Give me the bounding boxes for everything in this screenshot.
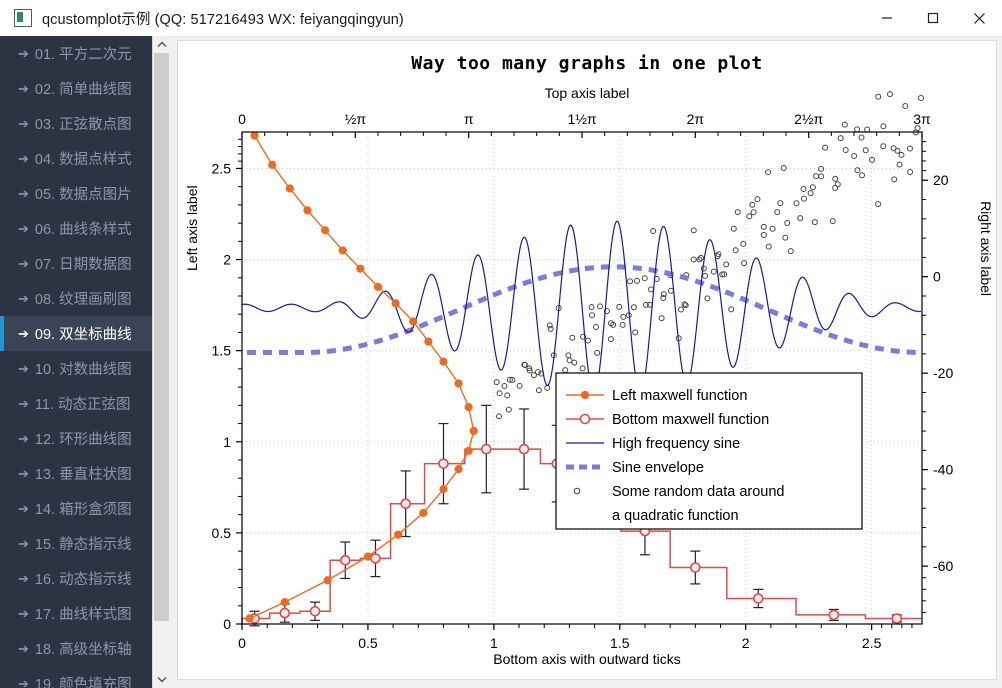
data-marker <box>286 185 293 192</box>
sidebar-item-label: 05. 数据点图片 <box>35 183 132 204</box>
scatter-point <box>590 313 595 318</box>
window-titlebar: qcustomplot示例 (QQ: 517216493 WX: feiyang… <box>0 0 1002 37</box>
sidebar-item-label: 13. 垂直柱状图 <box>35 463 132 484</box>
scatter-point <box>814 174 819 179</box>
scatter-point <box>572 360 577 365</box>
sidebar-item-5[interactable]: ➔05. 数据点图片 <box>0 176 152 211</box>
ticklabel-top: 0 <box>238 111 246 127</box>
data-marker <box>440 486 447 493</box>
data-marker <box>420 509 427 516</box>
ticklabel-left: 2 <box>223 252 231 268</box>
scatter-point <box>852 153 857 158</box>
scatter-point <box>801 196 806 201</box>
scatter-point <box>770 226 775 231</box>
sidebar-item-label: 01. 平方二次元 <box>35 43 132 64</box>
scatter-point <box>812 220 817 225</box>
ticklabel-top: π <box>464 111 474 127</box>
scatter-point <box>570 335 575 340</box>
scatter-point <box>842 122 847 127</box>
scatter-point <box>683 303 688 308</box>
ticklabel-left: 0 <box>223 616 231 632</box>
legend-label: Left maxwell function <box>612 388 747 404</box>
ticklabel-right: -40 <box>933 462 953 478</box>
legend-label: High frequency sine <box>612 436 740 452</box>
close-button[interactable] <box>956 1 1002 36</box>
data-marker <box>440 358 447 365</box>
sidebar-item-6[interactable]: ➔06. 曲线条样式 <box>0 211 152 246</box>
arrow-right-icon: ➔ <box>18 362 29 375</box>
scatter-point <box>733 248 738 253</box>
scatter-point <box>545 385 550 390</box>
line <box>250 136 474 619</box>
data-marker <box>339 247 346 254</box>
scatter-point <box>876 202 881 207</box>
data-marker <box>269 161 276 168</box>
scatter-point <box>580 366 585 371</box>
scatter-point <box>621 314 626 319</box>
arrow-right-icon: ➔ <box>18 222 29 235</box>
sidebar-item-label: 10. 对数曲线图 <box>35 358 132 379</box>
arrow-right-icon: ➔ <box>18 572 29 585</box>
data-marker <box>425 338 432 345</box>
arrow-right-icon: ➔ <box>18 642 29 655</box>
scatter-point <box>729 307 734 312</box>
scatter-point <box>598 304 603 309</box>
ticklabel-bottom: 1.5 <box>610 635 630 651</box>
sidebar-item-label: 09. 双坐标曲线 <box>35 323 132 344</box>
scatter-point <box>870 157 875 162</box>
scatter-point <box>899 152 904 157</box>
scatter-point <box>766 244 771 249</box>
sidebar-item-13[interactable]: ➔13. 垂直柱状图 <box>0 456 152 491</box>
scatter-point <box>801 186 806 191</box>
scatter-point <box>703 273 708 278</box>
sidebar-item-label: 08. 纹理画刷图 <box>35 288 132 309</box>
scatter-point <box>761 224 766 229</box>
scatter-point <box>798 216 803 221</box>
ticklabel-right: -20 <box>933 365 953 381</box>
scatter-point <box>783 235 788 240</box>
scatter-point <box>819 174 824 179</box>
sidebar-item-18[interactable]: ➔18. 高级坐标轴 <box>0 631 152 666</box>
data-marker <box>892 614 901 623</box>
arrow-right-icon: ➔ <box>18 152 29 165</box>
scatter-point <box>678 307 683 312</box>
arrow-right-icon: ➔ <box>18 607 29 620</box>
data-marker <box>374 283 381 290</box>
scatter-point <box>887 92 892 97</box>
sidebar-item-label: 15. 静态指示线 <box>35 533 132 554</box>
scatter-point <box>865 127 870 132</box>
data-marker <box>829 610 838 619</box>
scatter-point <box>589 305 594 310</box>
scatter-point <box>735 210 740 215</box>
data-marker <box>251 132 258 139</box>
legend-label-cont: a quadratic function <box>612 508 739 524</box>
scatter-point <box>502 384 507 389</box>
scatter-point <box>903 104 908 109</box>
data-marker <box>341 556 350 565</box>
scatter-point <box>494 380 499 385</box>
scatter-point <box>691 228 696 233</box>
arrow-right-icon: ➔ <box>18 292 29 305</box>
scatter-point <box>497 391 502 396</box>
maximize-button[interactable] <box>910 1 956 36</box>
arrow-right-icon: ➔ <box>18 432 29 445</box>
scatter-point <box>781 166 786 171</box>
legend-label: Some random data around <box>612 484 785 500</box>
scatter-point <box>595 350 600 355</box>
sidebar-item-label: 19. 颜色填充图 <box>35 673 132 688</box>
scrollbar-thumb[interactable] <box>154 53 169 621</box>
scatter-point <box>788 249 793 254</box>
scatter-point <box>631 305 636 310</box>
series-random-scatter <box>494 92 923 419</box>
plot-legend[interactable]: Left maxwell functionBottom maxwell func… <box>556 373 862 529</box>
data-marker <box>364 553 371 560</box>
scatter-point <box>892 177 897 182</box>
data-marker <box>280 609 289 618</box>
sidebar-item-11[interactable]: ➔11. 动态正弦图 <box>0 386 152 421</box>
sidebar-item-16[interactable]: ➔16. 动态指示线 <box>0 561 152 596</box>
scatter-point <box>497 414 502 419</box>
scatter-point <box>881 144 886 149</box>
scatter-point <box>823 145 828 150</box>
data-marker <box>246 615 253 622</box>
scatter-point <box>548 326 553 331</box>
legend-label: Sine envelope <box>612 460 704 476</box>
window-title: qcustomplot示例 (QQ: 517216493 WX: feiyang… <box>42 8 404 29</box>
sidebar-item-7[interactable]: ➔07. 日期数据图 <box>0 246 152 281</box>
data-marker <box>281 599 288 606</box>
data-marker <box>465 447 472 454</box>
ticklabel-left: 0.5 <box>212 525 232 541</box>
data-marker <box>324 577 331 584</box>
scatter-point <box>895 148 900 153</box>
scatter-point <box>751 210 756 215</box>
scatter-point <box>835 182 840 187</box>
arrow-right-icon: ➔ <box>18 467 29 480</box>
arrow-right-icon: ➔ <box>18 537 29 550</box>
ticklabel-right: -60 <box>933 558 953 574</box>
data-marker <box>754 594 763 603</box>
sidebar-item-label: 16. 动态指示线 <box>35 568 132 589</box>
series-left-maxwell <box>246 132 477 622</box>
scatter-point <box>563 368 568 373</box>
scatter-point <box>742 261 747 266</box>
sidebar-item-8[interactable]: ➔08. 纹理画刷图 <box>0 281 152 316</box>
ticklabel-bottom: 2 <box>742 635 750 651</box>
ticklabel-top: 3π <box>913 111 931 127</box>
chevron-down-icon <box>157 676 167 683</box>
scatter-point <box>705 296 710 301</box>
scatter-point <box>785 220 790 225</box>
ticklabel-right: 20 <box>933 172 949 188</box>
scatter-point <box>843 147 848 152</box>
scatter-point <box>566 353 571 358</box>
data-marker <box>395 531 402 538</box>
data-marker <box>401 499 410 508</box>
arrow-right-icon: ➔ <box>18 117 29 130</box>
scatter-point <box>747 214 752 219</box>
scroll-up-button[interactable] <box>153 36 170 53</box>
minimize-button[interactable] <box>864 1 910 36</box>
plot-panel[interactable]: Way too many graphs in one plot Top axis… <box>177 40 997 680</box>
data-marker <box>691 563 700 572</box>
data-marker <box>455 466 462 473</box>
arrow-right-icon: ➔ <box>18 257 29 270</box>
data-marker <box>520 445 529 454</box>
scatter-point <box>863 148 868 153</box>
sidebar-item-9[interactable]: ➔09. 双坐标曲线 <box>0 316 152 351</box>
scatter-point <box>855 127 860 132</box>
arrow-right-icon: ➔ <box>18 677 29 688</box>
scatter-point <box>876 94 881 99</box>
scatter-point <box>741 241 746 246</box>
data-marker <box>482 445 491 454</box>
scatter-point <box>810 185 815 190</box>
scatter-point <box>830 219 835 224</box>
scatter-point <box>859 135 864 140</box>
scatter-point <box>620 322 625 327</box>
sidebar-item-17[interactable]: ➔17. 曲线样式图 <box>0 596 152 631</box>
scatter-point <box>897 162 902 167</box>
scatter-point <box>506 407 511 412</box>
scatter-point <box>808 191 813 196</box>
close-icon <box>973 12 986 25</box>
scatter-point <box>691 257 696 262</box>
arrow-right-icon: ➔ <box>18 47 29 60</box>
ticklabel-left: 1 <box>223 434 231 450</box>
sidebar-item-label: 04. 数据点样式 <box>35 148 132 169</box>
scatter-point <box>833 176 838 181</box>
scatter-point <box>517 383 522 388</box>
sidebar-item-10[interactable]: ➔10. 对数曲线图 <box>0 351 152 386</box>
data-marker <box>465 404 472 411</box>
scatter-point <box>651 229 656 234</box>
ticklabel-left: 1.5 <box>212 343 232 359</box>
sidebar-item-3[interactable]: ➔03. 正弦散点图 <box>0 106 152 141</box>
sidebar-scrollbar[interactable] <box>152 36 170 688</box>
scatter-point <box>668 288 673 293</box>
scatter-point <box>907 146 912 151</box>
sidebar-item-label: 07. 日期数据图 <box>35 253 132 274</box>
scatter-point <box>505 393 510 398</box>
ticklabel-bottom: 1 <box>490 635 498 651</box>
data-marker <box>410 318 417 325</box>
scroll-down-button[interactable] <box>153 671 170 688</box>
data-marker <box>470 427 477 434</box>
sidebar-item-14[interactable]: ➔14. 箱形盒须图 <box>0 491 152 526</box>
ticklabel-top: 1½π <box>567 111 596 127</box>
scatter-point <box>724 262 729 267</box>
scatter-point <box>794 201 799 206</box>
arrow-right-icon: ➔ <box>18 82 29 95</box>
sidebar-item-15[interactable]: ➔15. 静态指示线 <box>0 526 152 561</box>
data-marker <box>392 300 399 307</box>
data-marker <box>304 207 311 214</box>
scatter-point <box>628 279 633 284</box>
sidebar-item-label: 06. 曲线条样式 <box>35 218 132 239</box>
ticklabel-bottom: 2.5 <box>862 635 882 651</box>
ticklabel-right: 0 <box>933 269 941 285</box>
ticklabel-left: 2.5 <box>212 160 232 176</box>
app-window: qcustomplot示例 (QQ: 517216493 WX: feiyang… <box>0 0 1002 688</box>
data-marker <box>371 554 380 563</box>
scatter-point <box>755 197 760 202</box>
sidebar-item-label: 02. 简单曲线图 <box>35 78 132 99</box>
scatter-point <box>633 330 638 335</box>
scatter-point <box>617 304 622 309</box>
sidebar-item-label: 11. 动态正弦图 <box>35 393 131 414</box>
arrow-right-icon: ➔ <box>18 187 29 200</box>
legend-sample-marker <box>581 391 588 398</box>
data-marker <box>455 380 462 387</box>
sidebar-item-1[interactable]: ➔01. 平方二次元 <box>0 36 152 71</box>
scatter-point <box>766 170 771 175</box>
arrow-right-icon: ➔ <box>18 327 29 340</box>
scatter-point <box>547 323 552 328</box>
ticklabel-top: ½π <box>345 111 367 127</box>
sidebar-item-label: 03. 正弦散点图 <box>35 113 132 134</box>
scatter-point <box>648 287 653 292</box>
scatter-point <box>838 136 843 141</box>
scatter-point <box>860 173 865 178</box>
ticklabel-top: 2½π <box>794 111 823 127</box>
scatter-point <box>750 202 755 207</box>
scatter-point <box>536 388 541 393</box>
scatter-point <box>908 170 913 175</box>
maximize-icon <box>927 12 939 24</box>
ticklabel-bottom: 0.5 <box>358 635 378 651</box>
scatter-point <box>711 269 716 274</box>
sidebar-item-label: 12. 环形曲线图 <box>35 428 132 449</box>
scatter-point <box>919 96 924 101</box>
scatter-point <box>642 276 647 281</box>
sidebar-nav[interactable]: ➔01. 平方二次元➔02. 简单曲线图➔03. 正弦散点图➔04. 数据点样式… <box>0 36 152 688</box>
scatter-point <box>659 316 664 321</box>
scatter-point <box>855 168 860 173</box>
scatter-point <box>731 226 736 231</box>
data-marker <box>357 265 364 272</box>
sidebar-item-label: 17. 曲线样式图 <box>35 603 132 624</box>
sidebar-item-2[interactable]: ➔02. 简单曲线图 <box>0 71 152 106</box>
scatter-point <box>608 337 613 342</box>
legend-sample-marker <box>581 415 590 424</box>
scatter-point <box>585 338 590 343</box>
app-icon <box>14 9 32 27</box>
arrow-right-icon: ➔ <box>18 397 29 410</box>
sidebar-item-4[interactable]: ➔04. 数据点样式 <box>0 141 152 176</box>
legend-label: Bottom maxwell function <box>612 412 769 428</box>
scatter-point <box>881 124 886 129</box>
chevron-up-icon <box>157 41 167 48</box>
plot-canvas[interactable]: 00.511.522.500.511.522.50½ππ1½π2π2½π3π20… <box>178 41 996 679</box>
sidebar-item-12[interactable]: ➔12. 环形曲线图 <box>0 421 152 456</box>
data-marker <box>311 607 320 616</box>
sidebar-item-19[interactable]: ➔19. 颜色填充图 <box>0 666 152 688</box>
sidebar-item-label: 18. 高级坐标轴 <box>35 638 132 659</box>
minimize-icon <box>881 12 893 24</box>
ticklabel-bottom: 0 <box>238 635 246 651</box>
ticklabel-top: 2π <box>687 111 705 127</box>
scatter-point <box>594 325 599 330</box>
arrow-right-icon: ➔ <box>18 502 29 515</box>
data-marker <box>439 459 448 468</box>
sidebar-item-label: 14. 箱形盒须图 <box>35 498 132 519</box>
data-marker <box>322 227 329 234</box>
scatter-point <box>761 233 766 238</box>
scatter-point <box>635 278 640 283</box>
scatter-point <box>778 201 783 206</box>
scatter-point <box>775 210 780 215</box>
